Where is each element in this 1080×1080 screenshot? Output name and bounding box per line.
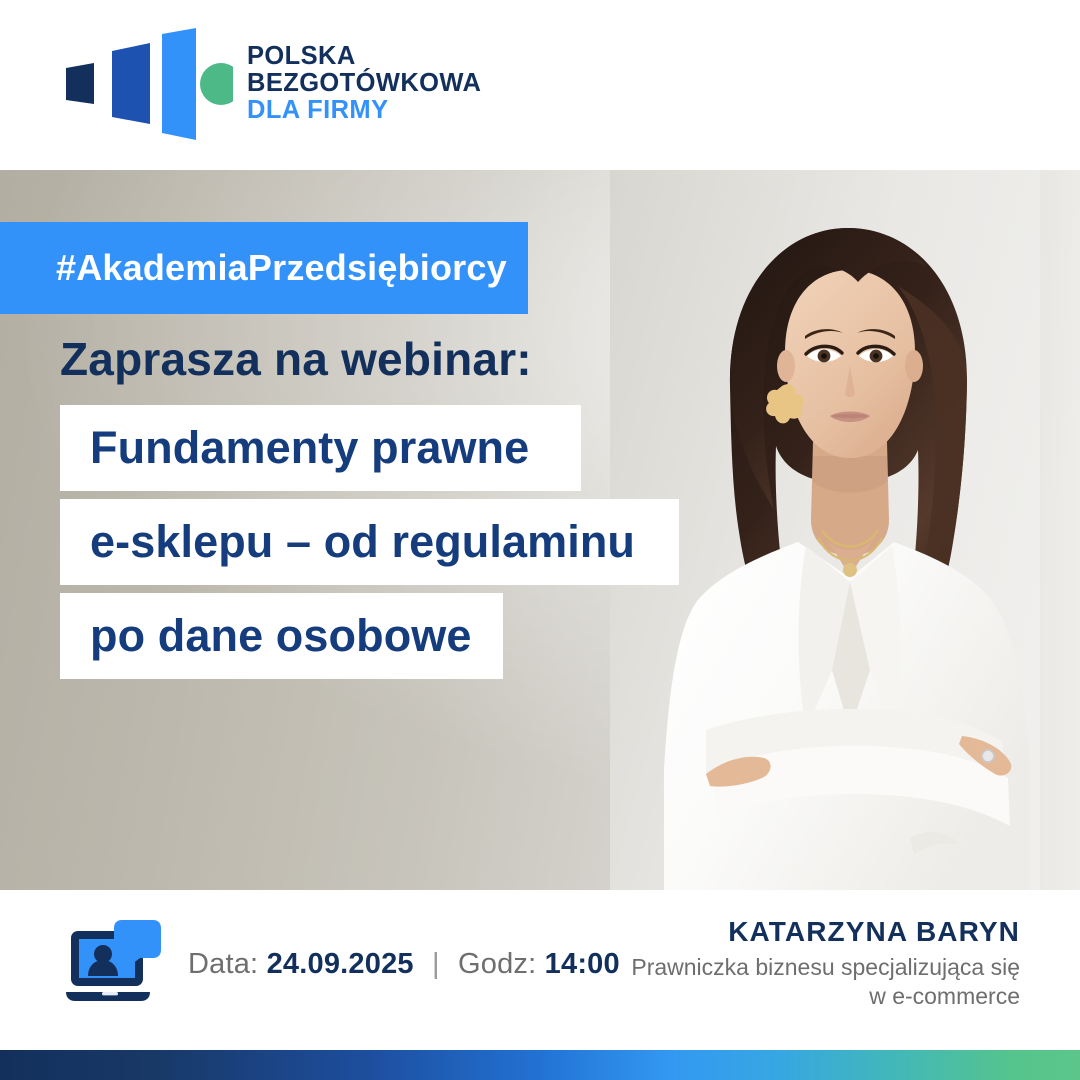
speaker-name: KATARZYNA BARYN — [631, 916, 1020, 948]
title-line-1-text: Fundamenty prawne — [60, 422, 559, 474]
footer-bar: Data: 24.09.2025 | Godz: 14:00 KATARZYNA… — [0, 890, 1080, 1050]
main-stage: #AkademiaPrzedsiębiorcy Zaprasza na webi… — [0, 170, 1080, 890]
hashtag-banner: #AkademiaPrzedsiębiorcy — [0, 222, 528, 314]
polska-bezgotowkowa-logo-mark-icon — [58, 28, 233, 140]
speaker-role-line-1: Prawniczka biznesu specjalizująca się — [631, 953, 1020, 982]
footer-datetime-group: Data: 24.09.2025 | Godz: 14:00 — [62, 912, 620, 1016]
datetime-separator: | — [432, 948, 440, 980]
time-label: Godz: — [458, 948, 536, 980]
title-line-3-box: po dane osobowe — [60, 593, 503, 679]
brand-logo-text: POLSKA BEZGOTÓWKOWA DLA FIRMY — [247, 44, 481, 124]
invite-line: Zaprasza na webinar: — [60, 332, 532, 386]
logo-line-polska: POLSKA — [247, 44, 481, 70]
speaker-portrait-image — [610, 170, 1080, 890]
bottom-gradient-bar — [0, 1050, 1080, 1080]
speaker-info: KATARZYNA BARYN Prawniczka biznesu specj… — [631, 916, 1020, 1011]
header-bar: POLSKA BEZGOTÓWKOWA DLA FIRMY — [0, 0, 1080, 170]
webinar-datetime: Data: 24.09.2025 | Godz: 14:00 — [188, 948, 620, 981]
title-line-3-text: po dane osobowe — [60, 610, 502, 662]
laptop-webinar-icon — [62, 912, 166, 1016]
title-line-1-box: Fundamenty prawne — [60, 405, 581, 491]
logo-line-dla-firmy: DLA FIRMY — [247, 98, 481, 124]
date-label: Data: — [188, 948, 258, 980]
webinar-promo-canvas: POLSKA BEZGOTÓWKOWA DLA FIRMY — [0, 0, 1080, 1080]
speaker-role-line-2: w e-commerce — [631, 982, 1020, 1011]
title-line-2-box: e-sklepu – od regulaminu — [60, 499, 679, 585]
hashtag-text: #AkademiaPrzedsiębiorcy — [56, 247, 507, 289]
date-value: 24.09.2025 — [267, 948, 414, 980]
brand-logo: POLSKA BEZGOTÓWKOWA DLA FIRMY — [58, 28, 481, 140]
logo-line-bezgotowkowa: BEZGOTÓWKOWA — [247, 71, 481, 97]
time-value: 14:00 — [545, 948, 620, 980]
title-line-2-text: e-sklepu – od regulaminu — [60, 516, 665, 568]
